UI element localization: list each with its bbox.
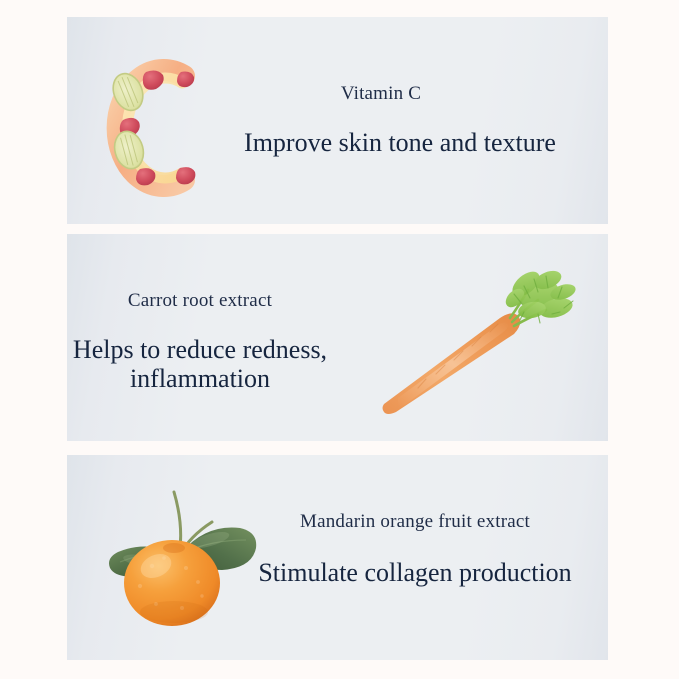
carrot-root-extract-headline: Helps to reduce redness, inflammation	[20, 335, 380, 393]
carrot-root-extract-eyebrow: Carrot root extract	[35, 290, 365, 313]
vitamin-c-headline: Improve skin tone and texture	[185, 128, 615, 157]
vitamin-c-eyebrow: Vitamin C	[266, 83, 496, 106]
mandarin-orange-eyebrow: Mandarin orange fruit extract	[240, 511, 590, 534]
panel-vitamin-c	[67, 17, 608, 224]
ingredient-benefits-board: Vitamin C Improve skin tone and texture	[0, 0, 679, 679]
mandarin-orange-headline: Stimulate collagen production	[255, 558, 575, 587]
